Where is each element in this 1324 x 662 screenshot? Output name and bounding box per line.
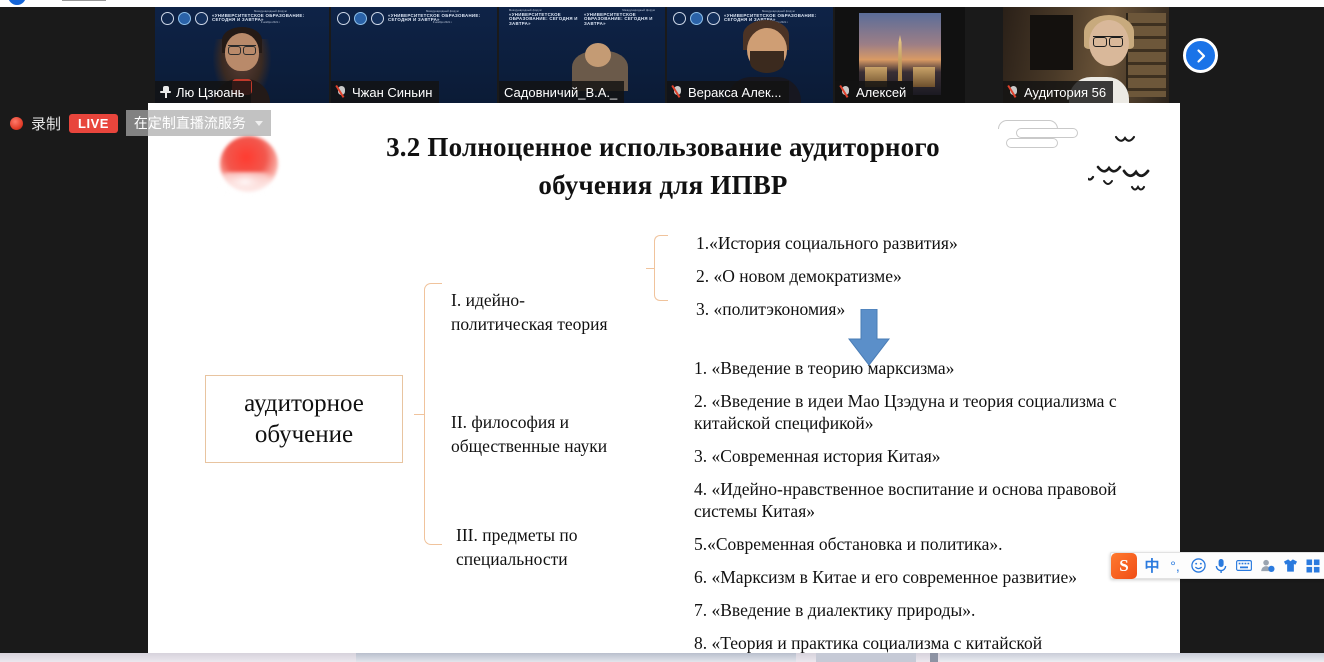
chrome-title-strip: [62, 0, 106, 1]
participant-name: Лю Цзюань: [176, 85, 244, 100]
crest-icon: [673, 12, 686, 25]
toolbox-icon[interactable]: [1305, 557, 1321, 575]
participant-namebar: Чжан Синьин: [331, 81, 439, 103]
crest-icon: [178, 12, 191, 25]
banner-line1: Международный форум: [762, 11, 795, 14]
participant-namebar: Садовничий_В.А._: [499, 81, 624, 103]
video-tile-0[interactable]: Международный форум «УНИВЕРСИТЕТСКОЕ ОБР…: [155, 7, 329, 103]
mic-muted-icon: [840, 85, 851, 99]
room-window: [1030, 15, 1073, 71]
video-tile-4[interactable]: Алексей: [835, 7, 965, 103]
taskbar-segment[interactable]: [940, 653, 1324, 662]
category-1-line1: I. идейно-: [451, 289, 651, 313]
participant-name: Алексей: [856, 85, 906, 100]
birds-decoration-icon: [1088, 131, 1180, 191]
banner-line2: «УНИВЕРСИТЕТСКОЕ ОБРАЗОВАНИЕ: СЕГОДНЯ И …: [509, 13, 580, 26]
browser-chrome-strip: [0, 0, 1324, 7]
stream-service-dropdown[interactable]: 在定制直播流服务: [126, 110, 271, 136]
philosophy-course-list: 1. «Введение в теорию марксизма» 2. «Вве…: [694, 357, 1134, 655]
mic-muted-icon: [336, 85, 347, 99]
participant-name: Веракса Алек...: [688, 85, 782, 100]
banner-line1: Международный форум: [254, 11, 287, 14]
glasses-icon: [1093, 36, 1123, 45]
emoji-icon[interactable]: [1190, 557, 1206, 575]
crest-icon: [337, 12, 350, 25]
banner-line1: Международный форум: [426, 11, 459, 14]
stream-service-label: 在定制直播流服务: [134, 113, 246, 133]
conference-banner: Международный форум «УНИВЕРСИТЕТСКОЕ ОБР…: [331, 7, 497, 29]
category-3-line2: специальности: [456, 548, 656, 572]
building-wing: [913, 67, 935, 87]
category-1: I. идейно- политическая теория: [451, 289, 651, 336]
main-concept-box: аудиторное обучение: [205, 375, 403, 463]
mic-muted-icon: [672, 85, 683, 99]
video-filmstrip: Международный форум «УНИВЕРСИТЕТСКОЕ ОБР…: [0, 7, 1324, 103]
punctuation-icon[interactable]: °,: [1167, 557, 1183, 575]
banner-line3: 9 ноября 2021 г.: [433, 22, 452, 25]
list-item: 3. «политэкономия»: [696, 299, 1116, 320]
glasses-icon: [228, 45, 256, 53]
banner-line1: Международный форум: [622, 10, 655, 13]
slide-title: 3.2 Полноценное использование аудиторног…: [268, 129, 1058, 205]
main-box-line1: аудиторное: [244, 388, 364, 419]
chrome-tab-indicator: [8, 0, 26, 5]
category-2: II. философия и общественные науки: [451, 411, 651, 458]
participant-namebar: Алексей: [835, 81, 913, 103]
list-item: 5.«Современная обстановка и политика».: [694, 533, 1134, 555]
main-brace: [424, 283, 442, 545]
list-item: 2. «О новом демократизме»: [696, 266, 1116, 287]
building-spire: [894, 35, 907, 81]
banner-line2: «УНИВЕРСИТЕТСКОЕ ОБРАЗОВАНИЕ: СЕГОДНЯ И …: [584, 13, 655, 26]
list-item: 8. «Теория и практика социализма с китай…: [694, 632, 1134, 655]
video-tile-3[interactable]: Международный форум «УНИВЕРСИТЕТСКОЕ ОБР…: [667, 7, 833, 103]
taskbar-segment[interactable]: [356, 653, 796, 662]
taskbar-segment[interactable]: [816, 653, 916, 662]
participant-name: Аудитория 56: [1024, 85, 1106, 100]
category-3: III. предметы по специальности: [456, 524, 656, 571]
participant-namebar: Веракса Алек...: [667, 81, 789, 103]
crest-icon: [690, 12, 703, 25]
banner-line1: Международный форум: [509, 10, 542, 13]
slide-title-line2: обучения для ИПВР: [268, 167, 1058, 205]
conference-banner: Международный форум «УНИВЕРСИТЕТСКОЕ ОБР…: [155, 7, 329, 29]
category-3-line1: III. предметы по: [456, 524, 656, 548]
ideological-course-list: 1.«История социального развития» 2. «О н…: [696, 233, 1116, 332]
pin-icon: [160, 85, 171, 99]
slide-title-line1: 3.2 Полноценное использование аудиторног…: [268, 129, 1058, 167]
taskbar-segment[interactable]: [930, 653, 938, 662]
participant-namebar: Лю Цзюань: [155, 81, 251, 103]
chevron-down-icon: [255, 121, 263, 126]
video-tile-2[interactable]: Международный форум «УНИВЕРСИТЕТСКОЕ ОБР…: [499, 7, 665, 103]
presentation-slide[interactable]: 3.2 Полноценное использование аудиторног…: [148, 103, 1180, 655]
chevron-right-icon: [1193, 48, 1209, 64]
live-badge: LIVE: [69, 114, 118, 133]
list-item: 3. «Современная история Китая»: [694, 445, 1134, 467]
participant-name: Садовничий_В.А._: [504, 85, 617, 100]
conference-banner: Международный форум «УНИВЕРСИТЕТСКОЕ ОБР…: [499, 7, 665, 29]
category-2-line2: общественные науки: [451, 435, 651, 459]
screen: Международный форум «УНИВЕРСИТЕТСКОЕ ОБР…: [0, 0, 1324, 662]
avatar-beard: [750, 51, 784, 73]
list-item: 1.«История социального развития»: [696, 233, 1116, 254]
main-box-line2: обучение: [244, 419, 364, 450]
participant-namebar: Аудитория 56: [1003, 81, 1113, 103]
list-item: 2. «Введение в идеи Мао Цзэдуна и теория…: [694, 390, 1134, 434]
sogou-ime-toolbar[interactable]: S 中 °,: [1110, 552, 1324, 579]
banner-line3: 9 ноября 2021 г.: [261, 22, 280, 25]
next-participants-button[interactable]: [1183, 38, 1218, 73]
category-2-line1: II. философия и: [451, 411, 651, 435]
list-item: 6. «Марксизм в Китае и его современное р…: [694, 566, 1134, 588]
category-1-line2: политическая теория: [451, 313, 651, 337]
participant-name: Чжан Синьин: [352, 85, 432, 100]
taskbar[interactable]: [0, 653, 1324, 662]
crest-icon: [195, 12, 208, 25]
voice-input-icon[interactable]: [1213, 557, 1229, 575]
ideological-brace: [654, 235, 668, 301]
chinese-mode-icon[interactable]: 中: [1144, 557, 1160, 575]
skin-icon[interactable]: [1282, 557, 1298, 575]
soft-keyboard-icon[interactable]: [1236, 557, 1252, 575]
video-tile-5[interactable]: Аудитория 56: [1003, 7, 1169, 103]
crest-icon: [161, 12, 174, 25]
sogou-logo-icon[interactable]: S: [1111, 553, 1137, 579]
user-icon[interactable]: [1259, 557, 1275, 575]
crest-icon: [354, 12, 367, 25]
record-indicator-icon: [10, 117, 23, 130]
video-tile-1[interactable]: Международный форум «УНИВЕРСИТЕТСКОЕ ОБР…: [331, 7, 497, 103]
crest-icon: [707, 12, 720, 25]
crest-icon: [371, 12, 384, 25]
list-item: 1. «Введение в теорию марксизма»: [694, 357, 1134, 379]
list-item: 7. «Введение в диалектику природы».: [694, 599, 1134, 621]
record-label: 录制: [31, 113, 61, 134]
list-item: 4. «Идейно-нравственное воспитание и осн…: [694, 478, 1134, 522]
recording-status-bar: 录制 LIVE 在定制直播流服务: [10, 110, 271, 136]
mic-muted-icon: [1008, 85, 1019, 99]
